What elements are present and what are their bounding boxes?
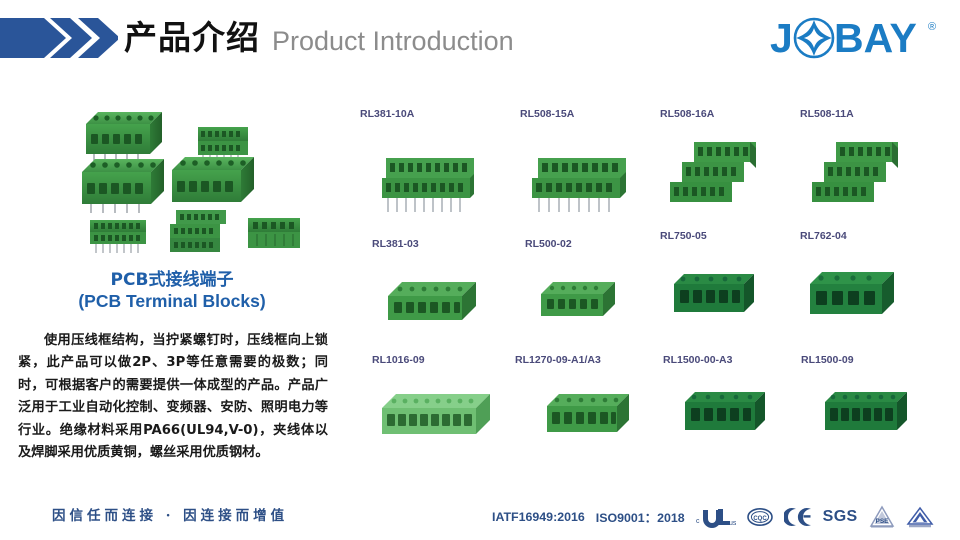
product-label: RL1500-00-A3 [663, 354, 813, 366]
left-panel-description: 使用压线框结构，当拧紧螺钉时，压线框向上锁紧，此产品可以做2P、3P等任意需要的… [18, 330, 328, 464]
svg-text:us: us [729, 520, 736, 527]
page-title-cn: 产品介绍 [124, 17, 260, 59]
product-card[interactable]: RL1500-00-A3 [657, 354, 807, 466]
iso9001-certification-text: ISO9001：2018 [596, 508, 685, 526]
jobay-star-logo-icon [795, 19, 833, 57]
terminal-block-angled-6pos-image [386, 274, 486, 332]
terminal-block-dark-6pos-image [821, 386, 917, 444]
iatf-certification-text: IATF16949:2016 [492, 510, 585, 524]
sgs-certification-icon: SGS [823, 508, 858, 526]
product-card[interactable]: RL381-03 [372, 238, 522, 350]
certification-list: IATF16949:2016 ISO9001：2018 c us CQC [492, 502, 952, 532]
left-panel-title-cn: PCB式接线端子 [14, 270, 330, 291]
terminal-block-dark-5pos-image [670, 270, 766, 326]
product-label: RL508-16A [660, 108, 810, 120]
pse-certification-icon: PSE [869, 505, 895, 529]
product-card[interactable]: RL508-15A [512, 108, 662, 226]
svg-text:PSE: PSE [875, 518, 889, 525]
terminal-block-dual-row-10pos-image [382, 154, 486, 216]
terminal-block-triple-stack-image [668, 140, 772, 222]
terminal-block-angled-6pos-b-image [543, 386, 639, 448]
product-label: RL1500-09 [801, 354, 951, 366]
ul-certification-icon: c us [696, 506, 736, 528]
product-card[interactable]: RL508-11A [792, 108, 942, 226]
footer-slogan: 因信任而连接 · 因连接而增值 [52, 504, 288, 524]
ce-certification-icon [784, 506, 812, 528]
page-title-en: Product Introduction [272, 22, 514, 60]
svg-text:CQC: CQC [753, 516, 767, 522]
pcb-terminal-blocks-collage-image [72, 98, 340, 264]
cqc-certification-icon: CQC [747, 507, 773, 527]
product-card[interactable]: RL750-05 [652, 230, 802, 350]
triangle-certification-icon [906, 505, 934, 529]
product-card[interactable]: RL1270-09-A1/A3 [507, 354, 677, 466]
product-label: RL750-05 [660, 230, 810, 242]
product-card[interactable]: RL500-02 [517, 238, 667, 350]
product-card[interactable]: RL762-04 [792, 230, 942, 350]
product-label: RL762-04 [800, 230, 950, 242]
product-label: RL381-10A [360, 108, 510, 120]
slide-footer: 因信任而连接 · 因连接而增值 IATF16949:2016 ISO9001：2… [0, 492, 960, 540]
product-card[interactable]: RL508-16A [652, 108, 802, 226]
svg-text:®: ® [928, 21, 936, 33]
terminal-block-dark-4pos-image [806, 270, 902, 328]
slide-header: 产品介绍 Product Introduction J BAY ® [0, 0, 960, 78]
svg-text:BAY: BAY [834, 16, 917, 60]
chevron-arrows-icon [0, 14, 118, 62]
product-card[interactable]: RL381-10A [360, 108, 510, 226]
terminal-block-dark-5pos-b-image [681, 386, 777, 444]
svg-text:c: c [696, 518, 700, 525]
terminal-block-triple-stack-image [810, 140, 914, 222]
product-grid: RL381-10A [352, 108, 948, 476]
product-label: RL508-15A [520, 108, 670, 120]
terminal-block-light-9pos-image [378, 386, 498, 448]
product-label: RL381-03 [372, 238, 522, 250]
product-label: RL508-11A [800, 108, 950, 120]
jobay-logo: J BAY ® [768, 16, 944, 60]
terminal-block-dual-row-9pos-image [532, 154, 636, 216]
slide-root: 产品介绍 Product Introduction J BAY ® [0, 0, 960, 540]
svg-text:J: J [770, 16, 793, 60]
terminal-block-angled-5pos-image [539, 274, 629, 330]
product-card[interactable]: RL1500-09 [797, 354, 947, 466]
left-panel-title: PCB式接线端子 (PCB Terminal Blocks) [14, 270, 330, 312]
left-panel-title-en: (PCB Terminal Blocks) [14, 291, 330, 312]
